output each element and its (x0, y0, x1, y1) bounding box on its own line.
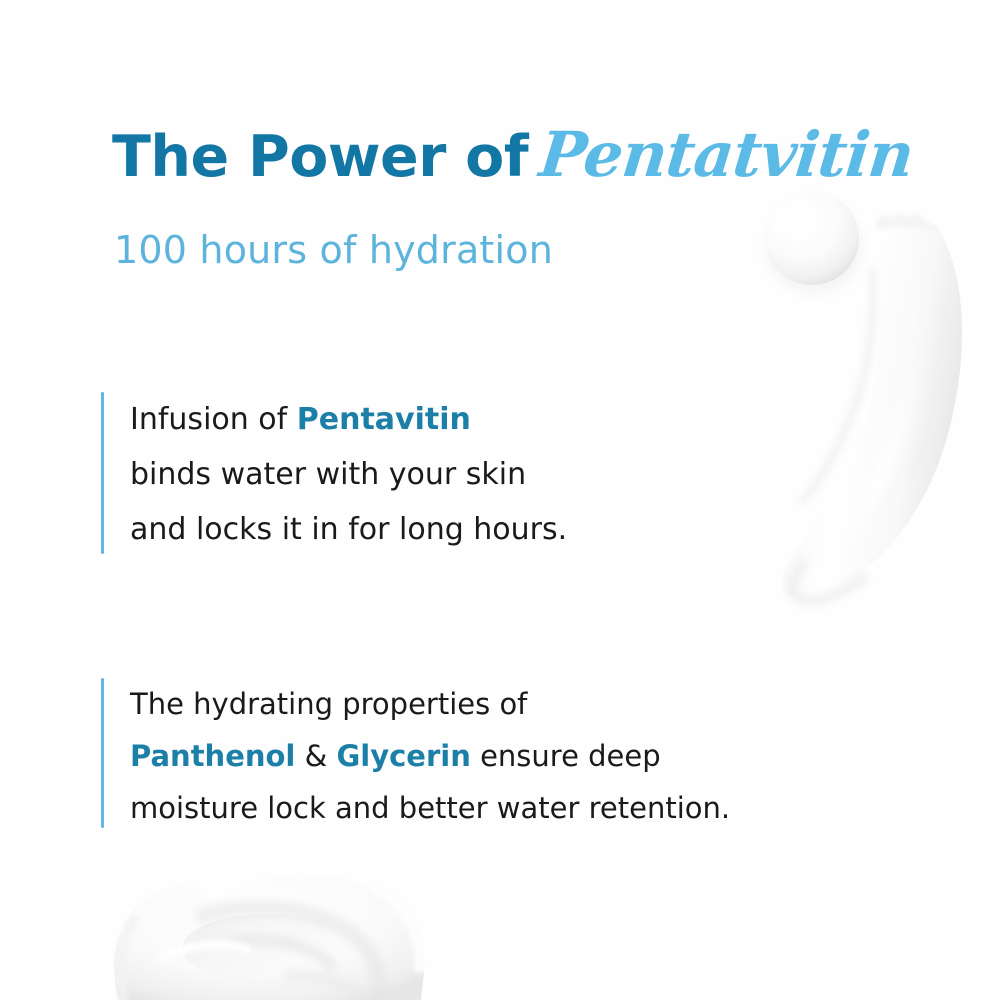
page-subtitle: 100 hours of hydration (114, 228, 553, 272)
claim-2-line-1: The hydrating properties of (130, 678, 730, 730)
claim-2-line-3: moisture lock and better water retention… (130, 782, 730, 834)
page-title-main: The Power of (112, 124, 528, 190)
claim-block-panthenol-glycerin: The hydrating properties of Panthenol & … (101, 678, 730, 828)
claim-1-line-1: Infusion of Pentavitin (130, 392, 567, 447)
claim-1-line-2: binds water with your skin (130, 447, 567, 502)
claim-1-line-3: and locks it in for long hours. (130, 502, 567, 557)
cream-dollop-sphere (765, 191, 860, 291)
claim-block-pentavitin: Infusion of Pentavitin binds water with … (101, 392, 567, 554)
claim-2-text: The hydrating properties of Panthenol & … (104, 678, 730, 828)
highlight-panthenol: Panthenol (130, 739, 295, 773)
page-title-script: Pentatvitin (537, 124, 916, 186)
page-title: The Power ofPentatvitin (112, 124, 912, 186)
claim-2-ampersand: & (295, 739, 336, 773)
cream-swirl-blob (114, 864, 424, 1000)
claim-1-text: Infusion of Pentavitin binds water with … (104, 392, 567, 554)
claim-1-line-1-lead: Infusion of (130, 402, 297, 437)
claim-2-line-2-tail: ensure deep (471, 739, 661, 773)
cream-smear-swoosh (782, 213, 962, 601)
product-claims-poster: The Power ofPentatvitin 100 hours of hyd… (0, 0, 1000, 1000)
claim-2-line-2: Panthenol & Glycerin ensure deep (130, 730, 730, 782)
highlight-glycerin: Glycerin (336, 739, 470, 773)
highlight-pentavitin: Pentavitin (297, 402, 471, 437)
